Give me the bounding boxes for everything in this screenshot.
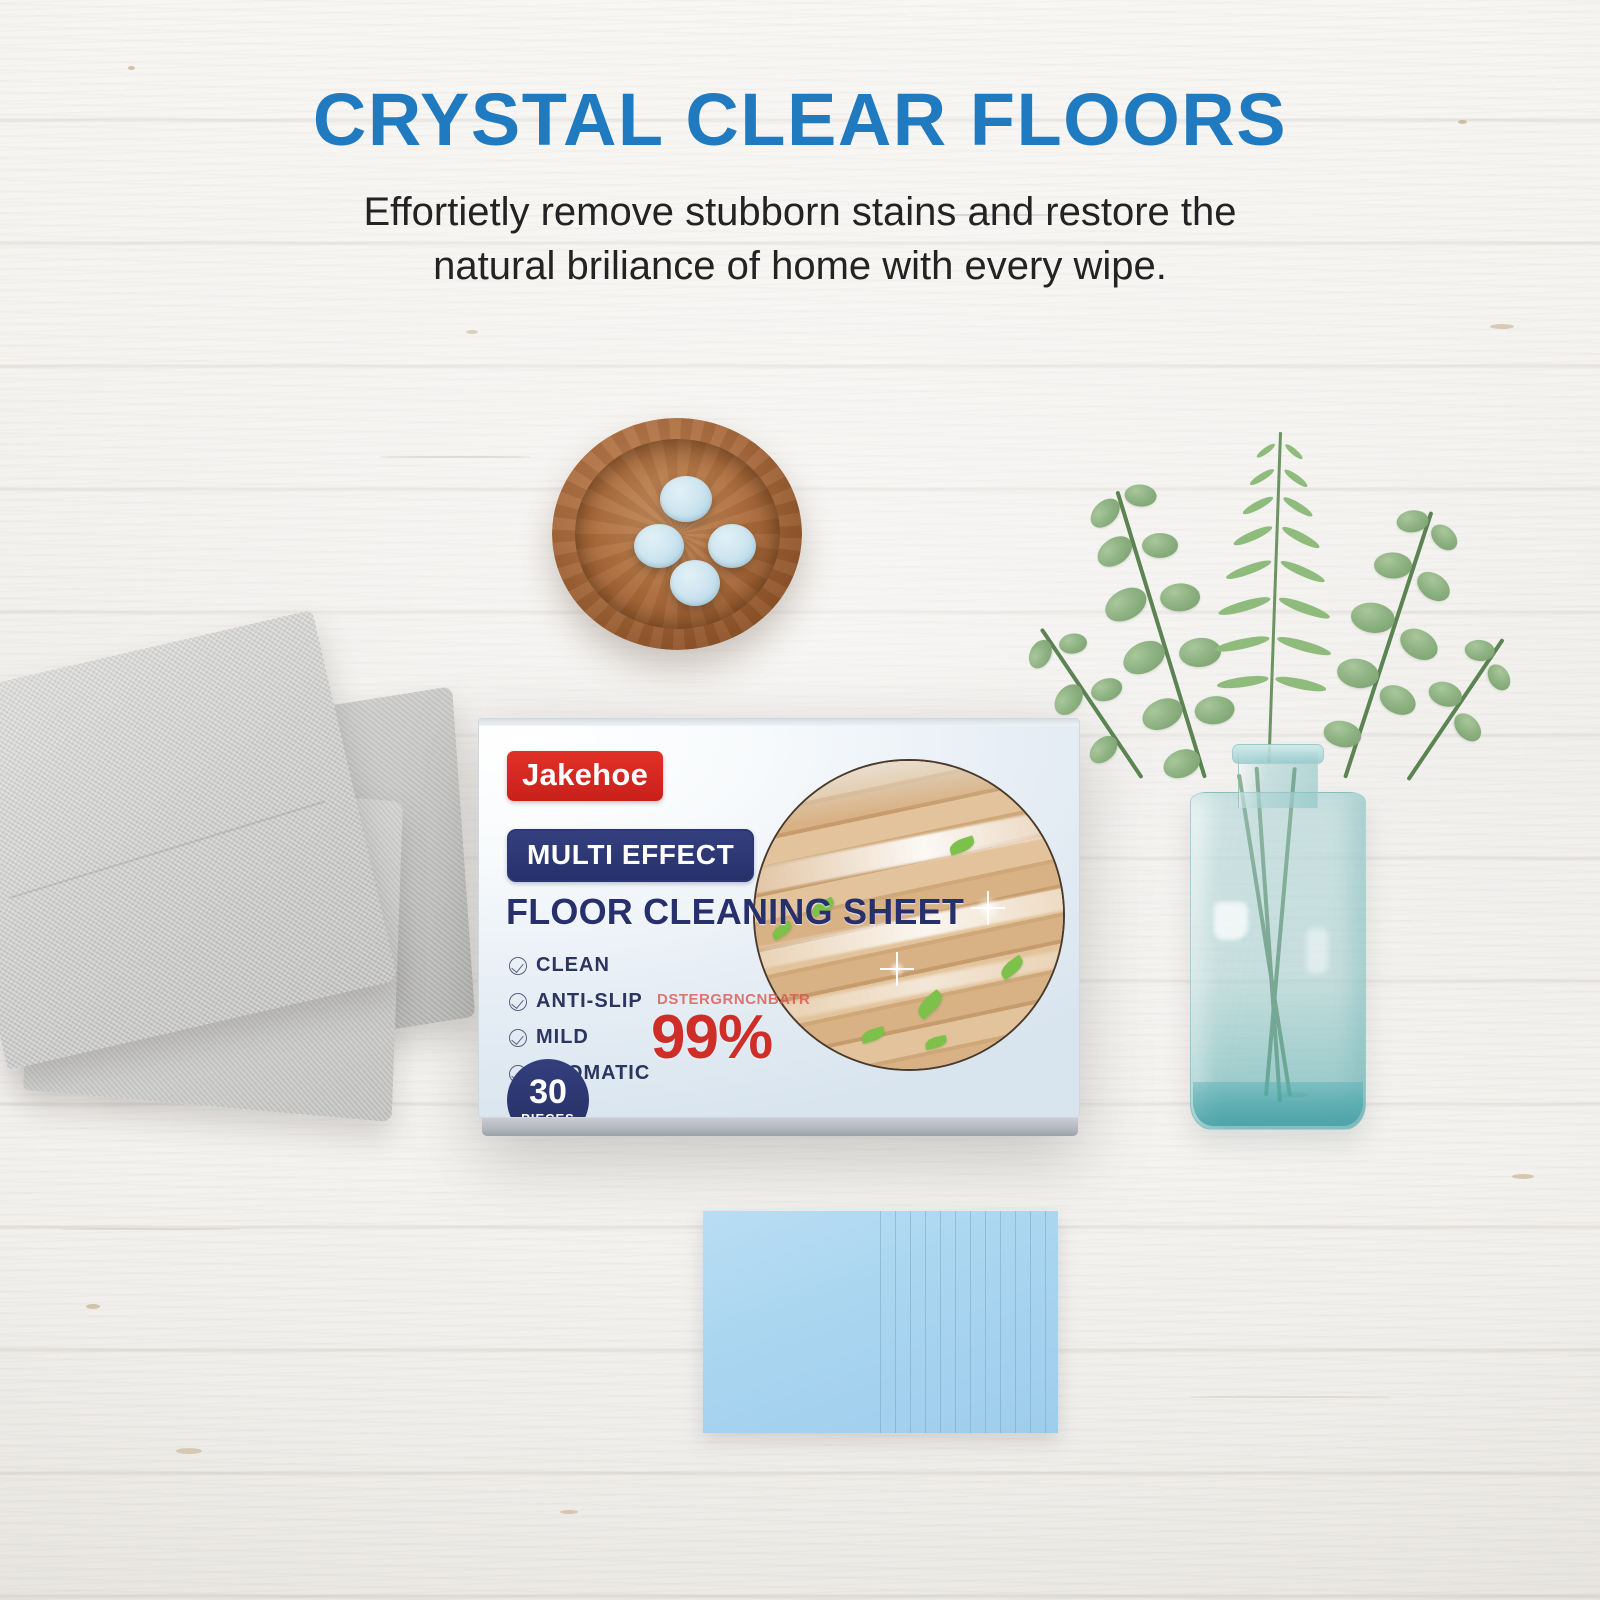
vase-water bbox=[1193, 1082, 1363, 1126]
vase-lip bbox=[1232, 744, 1324, 764]
cleaning-tablet bbox=[670, 560, 720, 606]
sheet-score-lines bbox=[866, 1211, 1058, 1433]
check-circle-icon bbox=[509, 993, 527, 1011]
wood-speck bbox=[466, 330, 478, 334]
sparkle-icon bbox=[887, 959, 907, 979]
feature-item: MILD bbox=[509, 1026, 650, 1049]
wood-scratch bbox=[1190, 1396, 1390, 1398]
vase-highlight bbox=[1306, 928, 1328, 974]
cleaning-tablet bbox=[708, 524, 756, 568]
product-box[interactable]: Jakehoe MULTI EFFECT FLOOR CLEANING SHEE… bbox=[478, 718, 1080, 1134]
vase-highlight bbox=[1214, 902, 1248, 940]
feature-label: ANTI-SLIP bbox=[536, 990, 643, 1013]
subtitle-line-2: natural briliance of home with every wip… bbox=[0, 239, 1600, 293]
multi-effect-badge: MULTI EFFECT bbox=[507, 829, 754, 882]
glass-vase bbox=[1190, 730, 1366, 1130]
wood-scratch bbox=[60, 1228, 240, 1230]
feature-item: ANTI-SLIP bbox=[509, 990, 650, 1013]
box-front-face: Jakehoe MULTI EFFECT FLOOR CLEANING SHEE… bbox=[478, 718, 1080, 1118]
page-title: CRYSTAL CLEAR FLOORS bbox=[0, 82, 1600, 157]
wood-speck bbox=[128, 66, 135, 70]
brand-logo-badge: Jakehoe bbox=[507, 751, 663, 801]
box-top-edge bbox=[479, 719, 1079, 726]
vase-body bbox=[1190, 792, 1366, 1130]
headline-block: CRYSTAL CLEAR FLOORS Effortietly remove … bbox=[0, 82, 1600, 293]
wood-speck bbox=[86, 1304, 100, 1309]
cleaning-tablet bbox=[634, 524, 684, 568]
page-subtitle: Effortietly remove stubborn stains and r… bbox=[0, 185, 1600, 293]
wood-speck bbox=[1512, 1174, 1534, 1179]
piece-count-number: 30 bbox=[529, 1075, 567, 1109]
sparkle-icon bbox=[973, 893, 1003, 923]
wood-speck bbox=[176, 1448, 202, 1454]
check-circle-icon bbox=[509, 957, 527, 975]
check-circle-icon bbox=[509, 1029, 527, 1047]
feature-label: CLEAN bbox=[536, 954, 610, 977]
cleaning-tablet bbox=[660, 476, 712, 522]
product-name: FLOOR CLEANING SHEET bbox=[506, 891, 964, 933]
wood-speck bbox=[1490, 324, 1514, 329]
box-bottom-edge bbox=[482, 1118, 1078, 1136]
feature-item: CLEAN bbox=[509, 954, 650, 977]
wood-scratch bbox=[380, 456, 530, 458]
wood-speck bbox=[560, 1510, 578, 1514]
piece-count-unit: PIECES bbox=[521, 1112, 575, 1118]
cleaning-sheet bbox=[703, 1211, 1058, 1433]
detergency-rate-value: 99% bbox=[651, 1007, 772, 1069]
subtitle-line-1: Effortietly remove stubborn stains and r… bbox=[363, 190, 1236, 234]
towel-fold-line bbox=[9, 800, 325, 898]
wooden-bowl bbox=[552, 418, 802, 650]
product-scene: CRYSTAL CLEAR FLOORS Effortietly remove … bbox=[0, 0, 1600, 1600]
feature-label: MILD bbox=[536, 1026, 589, 1049]
